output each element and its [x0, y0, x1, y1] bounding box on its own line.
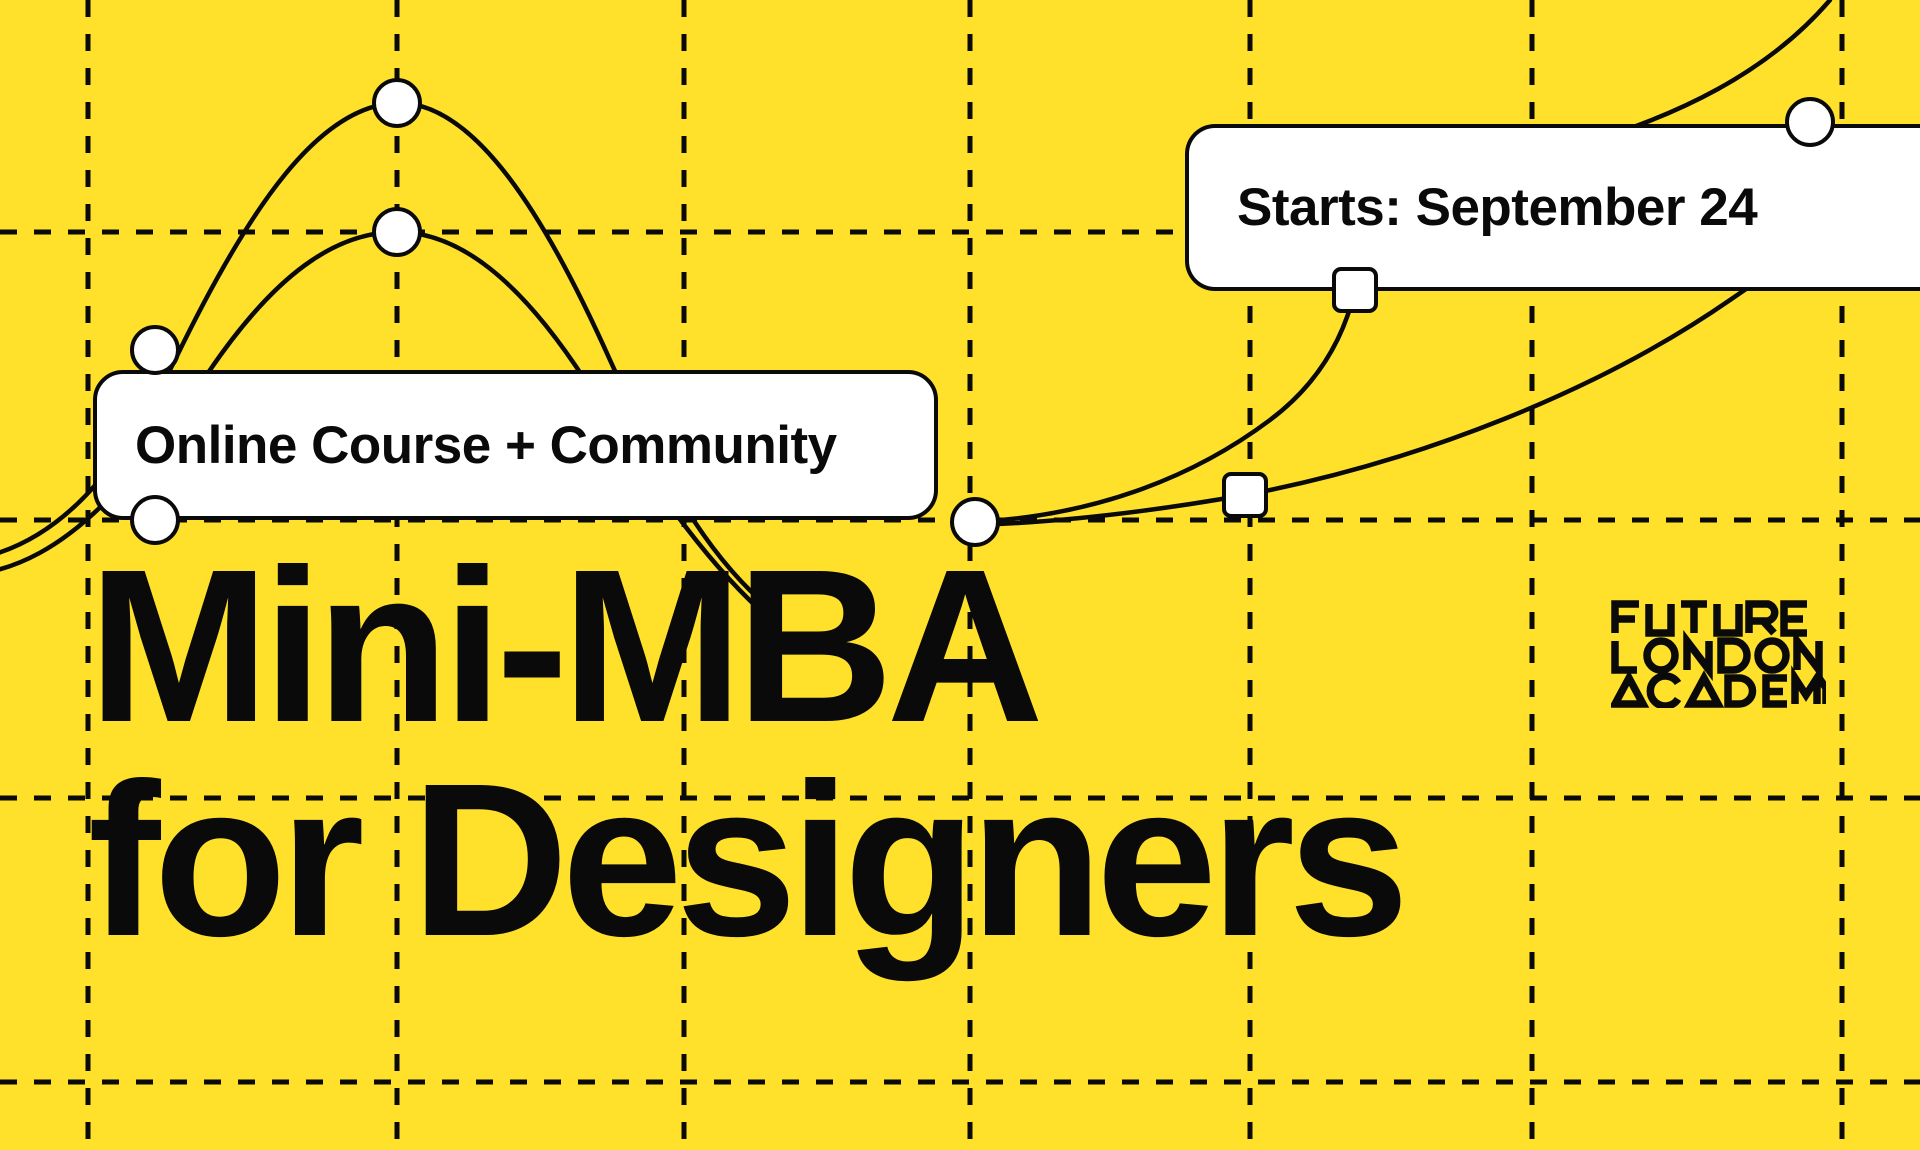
callout-course-format-label: Online Course + Community: [97, 415, 837, 476]
data-point-handle-course-top-left[interactable]: [130, 325, 180, 375]
data-point-handle-course-bottom-left[interactable]: [130, 495, 180, 545]
future-london-academy-logomark: [1611, 600, 1826, 708]
brand-logo: [1611, 600, 1826, 708]
callout-course-format[interactable]: Online Course + Community: [93, 370, 938, 520]
data-point-handle-bell-outer-peak[interactable]: [372, 78, 422, 128]
data-point-handle-exponential-steep[interactable]: [1332, 267, 1378, 313]
data-point-handle-bell-inner-peak[interactable]: [372, 207, 422, 257]
headline-line-1: Mini-MBA: [88, 540, 1402, 754]
headline-line-2: for Designers: [88, 754, 1402, 968]
data-point-handle-baseline-origin[interactable]: [950, 497, 1000, 547]
data-point-handle-starts-top-right[interactable]: [1785, 97, 1835, 147]
callout-start-date-label: Starts: September 24: [1189, 177, 1757, 238]
poster-canvas: Online Course + Community Starts: Septem…: [0, 0, 1920, 1150]
data-point-handle-exponential-shallow[interactable]: [1222, 472, 1268, 518]
page-title: Mini-MBA for Designers: [88, 540, 1402, 967]
callout-start-date[interactable]: Starts: September 24: [1185, 124, 1920, 291]
